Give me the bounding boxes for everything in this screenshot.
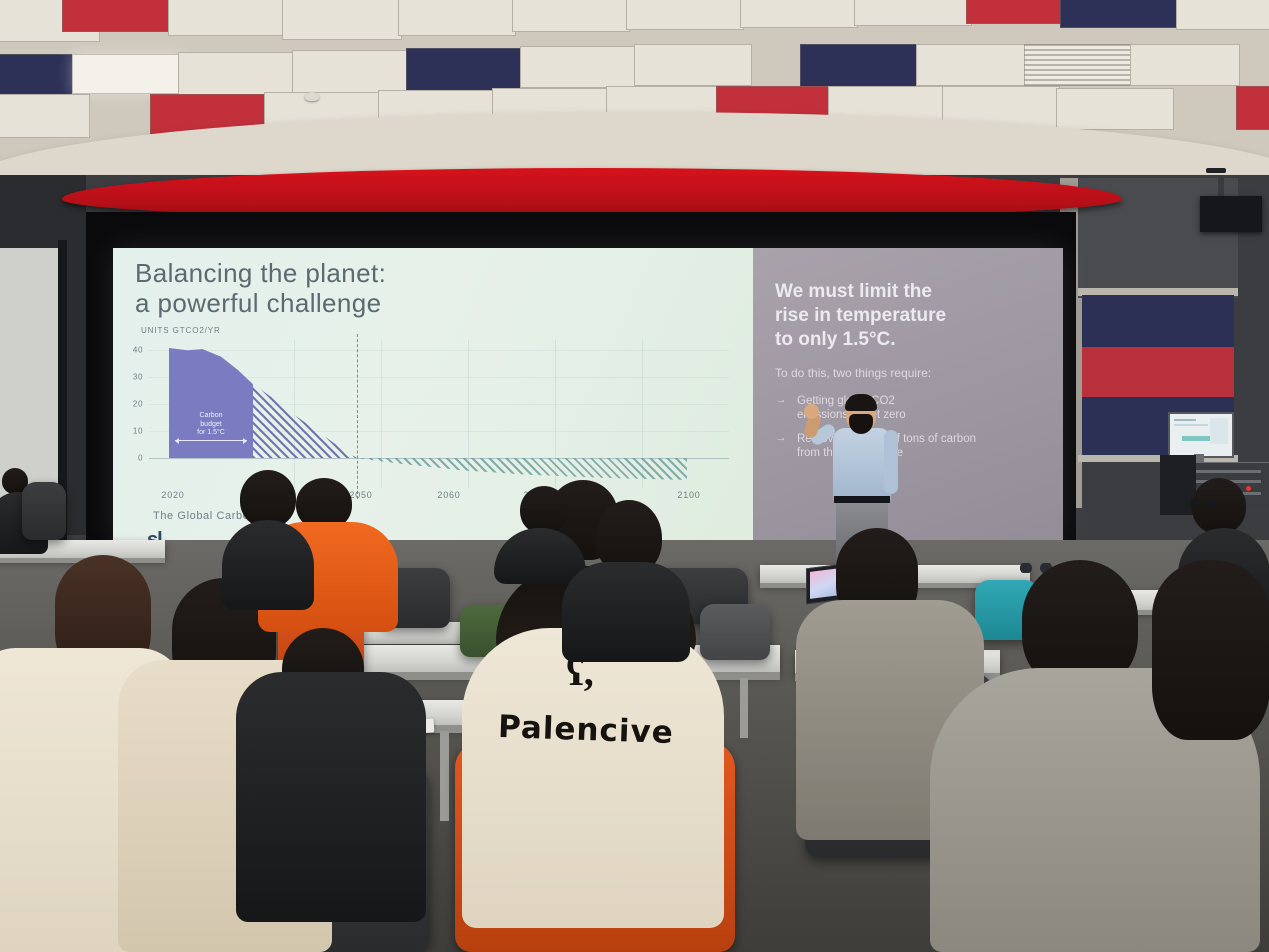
- right-wall-panel-navy-top: [1082, 295, 1234, 347]
- x-tick-2060: 2060: [437, 490, 460, 500]
- x-tick-2020: 2020: [161, 490, 184, 500]
- lecture-room-photo: Balancing the planet: a powerful challen…: [0, 0, 1269, 952]
- carbon-budget-label: Carbon budget for 1.5°C: [175, 412, 247, 438]
- smoke-detector-icon: [305, 92, 319, 101]
- presenter-torso: [833, 428, 891, 502]
- x-tick-2100: 2100: [677, 490, 700, 500]
- presenter-right-arm: [884, 430, 898, 494]
- ceiling-vent-icon: [1024, 44, 1134, 86]
- carbon-budget-arrow-icon: [175, 440, 247, 441]
- slide-right-panel: We must limit the rise in temperature to…: [753, 248, 1063, 545]
- right-wall-panel-red: [1082, 347, 1234, 397]
- power-indicator-icon: [1246, 486, 1251, 491]
- y-tick-40: 40: [133, 346, 143, 355]
- carbon-budget-area: [169, 348, 253, 458]
- av-monitor[interactable]: [1168, 412, 1234, 458]
- net-zero-marker: [357, 334, 358, 499]
- slide-title: Balancing the planet: a powerful challen…: [135, 258, 386, 318]
- chair-row2-c: [700, 604, 770, 660]
- x-tick-2050: 2050: [349, 490, 372, 500]
- chair-back-left: [22, 482, 66, 540]
- slide-bullet-1: Getting global CO2 emissions to net zero: [797, 394, 1063, 422]
- wall-speaker-icon: [1200, 196, 1262, 232]
- presenter-hair: [845, 394, 877, 411]
- y-tick-10: 10: [133, 427, 143, 436]
- y-tick-30: 30: [133, 373, 143, 382]
- slide-subhead: To do this, two things require:: [775, 366, 931, 380]
- slide-left-panel: Balancing the planet: a powerful challen…: [113, 248, 753, 545]
- presenter-belt: [834, 496, 890, 503]
- chart-units-label: UNITS GTCO2/YR: [141, 326, 221, 335]
- glasses-icon: [1186, 500, 1220, 508]
- speaker-mount: [1218, 178, 1224, 198]
- emissions-decline-hatched-area: [253, 384, 357, 458]
- y-tick-0: 0: [138, 454, 143, 463]
- camera-icon: [1206, 168, 1226, 173]
- carbon-removal-hatched-area: [357, 458, 687, 480]
- hoodie-word: Palencive: [497, 709, 674, 751]
- bullet-arrow-icon-1: →: [775, 394, 787, 406]
- bullet-arrow-icon-2: →: [775, 432, 787, 444]
- slide-headline: We must limit the rise in temperature to…: [775, 280, 1047, 352]
- y-tick-20: 20: [133, 400, 143, 409]
- carbon-curve-chart: 40 30 20 10 0 Carbon budget for 1.5°C 20…: [149, 340, 729, 488]
- presenter-left-hand: [804, 404, 819, 419]
